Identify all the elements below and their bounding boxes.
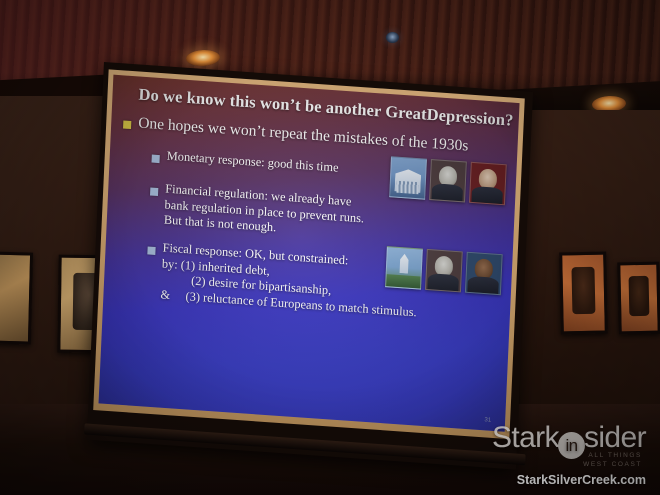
portrait-artwork [628, 275, 649, 316]
federal-reserve-building-photo [389, 156, 427, 199]
presentation-slide: Do we know this won’t be another GreatDe… [99, 75, 520, 432]
portrait-artwork [571, 267, 595, 315]
framed-picture [0, 251, 33, 344]
slide-photo-row-monetary [389, 156, 507, 205]
photo-scene: Do we know this won’t be another GreatDe… [0, 0, 660, 495]
picture-mat [0, 255, 30, 342]
alan-greenspan-photo [429, 159, 467, 202]
framed-portrait [559, 252, 608, 335]
slide-point-financial-regulation: Financial regulation: we already have ba… [149, 181, 366, 242]
slide-point-fiscal-text: Fiscal response: OK, but constrained: by… [160, 240, 419, 320]
president-portrait-photo [465, 252, 503, 295]
slide-point-financial-regulation-text: Financial regulation: we already have ba… [164, 182, 366, 242]
blue-square-bullet-icon [151, 155, 159, 164]
projection-screen: Do we know this won’t be another GreatDe… [87, 62, 533, 470]
gold-square-bullet-icon [123, 120, 131, 129]
us-capitol-photo [385, 246, 423, 289]
slide-page-number: 31 [484, 417, 491, 423]
slide-point-monetary-text: Monetary response: good this time [166, 149, 338, 176]
blue-square-bullet-icon [150, 188, 158, 197]
economist-portrait-photo [425, 249, 463, 292]
blue-square-bullet-icon [147, 246, 155, 255]
slide-point-monetary: Monetary response: good this time [151, 148, 338, 177]
ben-bernanke-photo [469, 162, 507, 205]
slide-photo-row-fiscal [385, 246, 503, 295]
recessed-downlight-icon [386, 32, 399, 43]
framed-portrait [617, 262, 660, 335]
slide-point-fiscal: Fiscal response: OK, but constrained: by… [145, 239, 419, 320]
